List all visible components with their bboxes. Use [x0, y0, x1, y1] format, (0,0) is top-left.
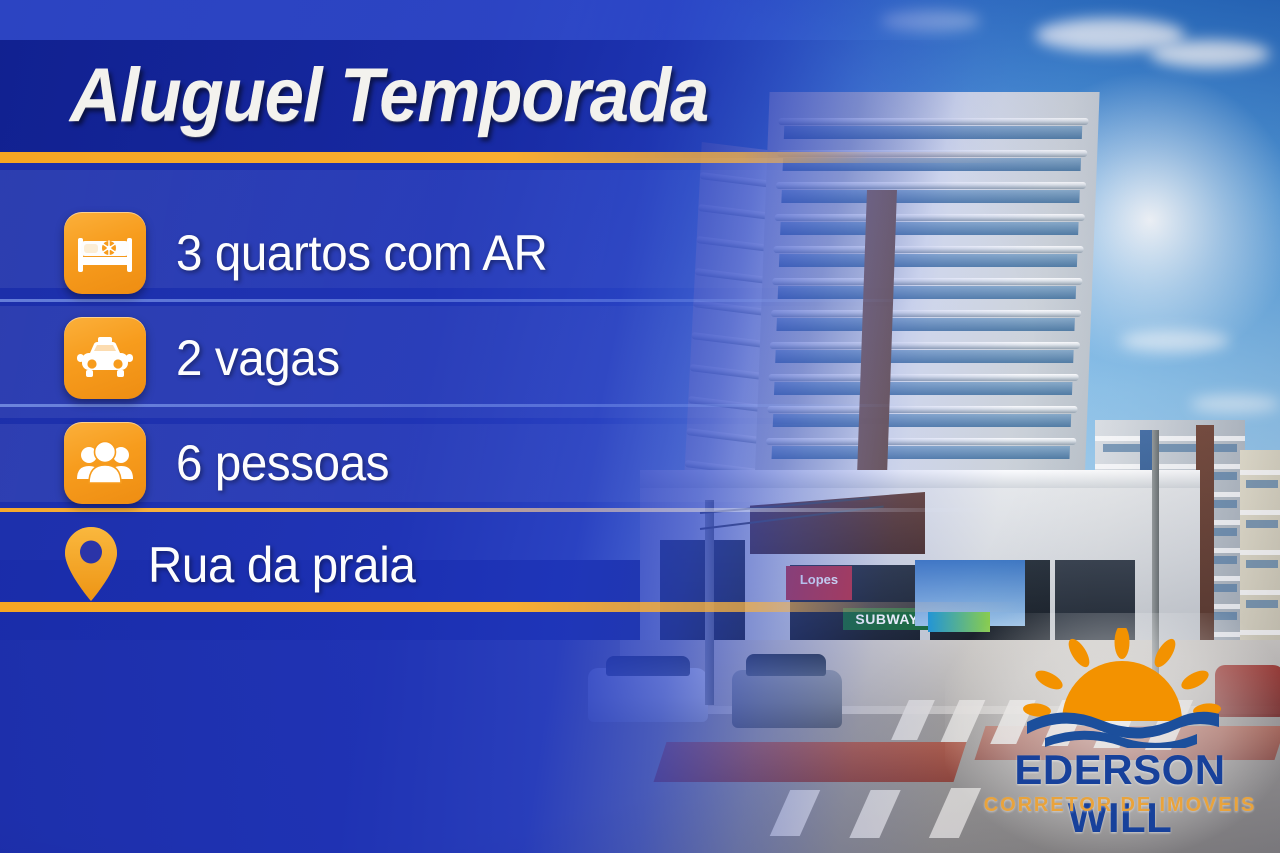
bed-ac-icon	[64, 212, 146, 294]
promo-banner: Lopes SUBWAY	[0, 0, 1280, 853]
feature-row-bedrooms: 3 quartos com AR	[64, 212, 567, 294]
logo-subtitle: CORRETOR DE IMOVEIS	[975, 794, 1265, 817]
feature-label-location: Rua da praia	[148, 536, 415, 594]
separator-row-3	[0, 508, 1280, 512]
feature-row-location: Rua da praia	[58, 524, 430, 606]
separator-row-1	[0, 299, 1280, 302]
separator-row-2	[0, 404, 1280, 407]
feature-label-parking: 2 vagas	[176, 329, 340, 387]
feature-label-bedrooms: 3 quartos com AR	[176, 224, 547, 282]
feature-row-guests: 6 pessoas	[64, 422, 400, 504]
separator-title	[0, 152, 1280, 163]
brand-logo: EDERSON WILL CORRETOR DE IMOVEIS	[975, 628, 1265, 833]
feature-row-parking: 2 vagas	[64, 317, 348, 399]
sun-wave-icon	[1017, 628, 1227, 748]
car-icon	[64, 317, 146, 399]
people-icon	[64, 422, 146, 504]
top-band	[0, 0, 1280, 40]
page-title: Aluguel Temporada	[70, 52, 708, 139]
map-pin-icon	[58, 524, 124, 606]
feature-label-guests: 6 pessoas	[176, 434, 389, 492]
